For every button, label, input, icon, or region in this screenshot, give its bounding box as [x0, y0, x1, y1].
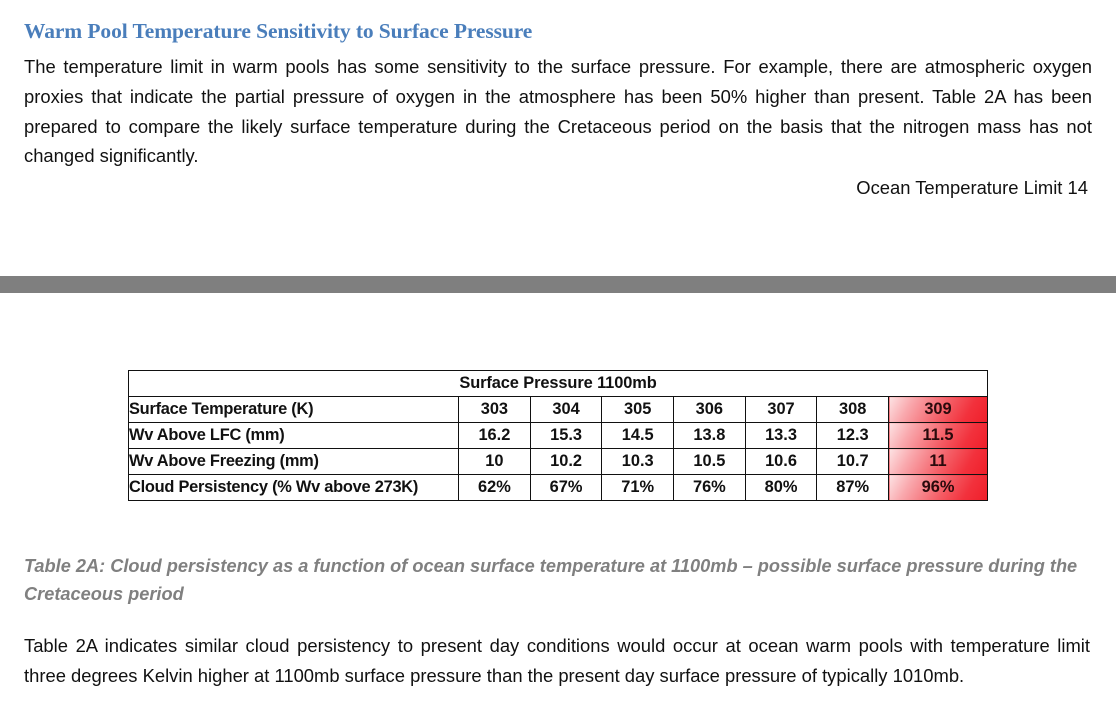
- table-cell: 62%: [459, 475, 531, 501]
- table-cell: 303: [459, 397, 531, 423]
- table-cell: 308: [817, 397, 889, 423]
- table-cell: 12.3: [817, 423, 889, 449]
- document-page: Warm Pool Temperature Sensitivity to Sur…: [0, 0, 1116, 713]
- table-title-row: Surface Pressure 1100mb: [129, 371, 988, 397]
- table-row: Wv Above Freezing (mm) 10 10.2 10.3 10.5…: [129, 449, 988, 475]
- table-title-cell: Surface Pressure 1100mb: [129, 371, 988, 397]
- intro-paragraph: The temperature limit in warm pools has …: [24, 52, 1092, 170]
- table-cell: 10.6: [745, 449, 817, 475]
- table-row: Surface Temperature (K) 303 304 305 306 …: [129, 397, 988, 423]
- table-cell: 16.2: [459, 423, 531, 449]
- table-row: Cloud Persistency (% Wv above 273K) 62% …: [129, 475, 988, 501]
- table-cell: 304: [530, 397, 602, 423]
- table-cell-highlighted: 96%: [889, 475, 988, 501]
- row-label-surface-temperature: Surface Temperature (K): [129, 397, 459, 423]
- page-title: Warm Pool Temperature Sensitivity to Sur…: [24, 18, 1094, 44]
- table-cell: 10.5: [674, 449, 746, 475]
- table-cell: 71%: [602, 475, 674, 501]
- table-cell: 14.5: [602, 423, 674, 449]
- row-label-wv-above-freezing: Wv Above Freezing (mm): [129, 449, 459, 475]
- table-cell: 307: [745, 397, 817, 423]
- table-cell-highlighted: 11: [889, 449, 988, 475]
- table-2a-container: Surface Pressure 1100mb Surface Temperat…: [128, 370, 988, 501]
- table-cell: 15.3: [530, 423, 602, 449]
- table-cell: 10.3: [602, 449, 674, 475]
- table-row: Wv Above LFC (mm) 16.2 15.3 14.5 13.8 13…: [129, 423, 988, 449]
- table-cell: 305: [602, 397, 674, 423]
- table-cell: 87%: [817, 475, 889, 501]
- table-cell: 13.8: [674, 423, 746, 449]
- running-header-label: Ocean Temperature Limit 14: [24, 176, 1088, 200]
- table-cell: 80%: [745, 475, 817, 501]
- section-divider-band: [0, 276, 1116, 293]
- table-cell: 13.3: [745, 423, 817, 449]
- table-cell: 306: [674, 397, 746, 423]
- table-cell-highlighted: 309: [889, 397, 988, 423]
- table-2a: Surface Pressure 1100mb Surface Temperat…: [128, 370, 988, 501]
- table-cell: 10: [459, 449, 531, 475]
- table-cell-highlighted: 11.5: [889, 423, 988, 449]
- table-cell: 10.2: [530, 449, 602, 475]
- table-caption: Table 2A: Cloud persistency as a functio…: [24, 552, 1090, 608]
- table-cell: 10.7: [817, 449, 889, 475]
- row-label-cloud-persistency: Cloud Persistency (% Wv above 273K): [129, 475, 459, 501]
- closing-paragraph: Table 2A indicates similar cloud persist…: [24, 631, 1090, 690]
- table-cell: 76%: [674, 475, 746, 501]
- row-label-wv-above-lfc: Wv Above LFC (mm): [129, 423, 459, 449]
- table-cell: 67%: [530, 475, 602, 501]
